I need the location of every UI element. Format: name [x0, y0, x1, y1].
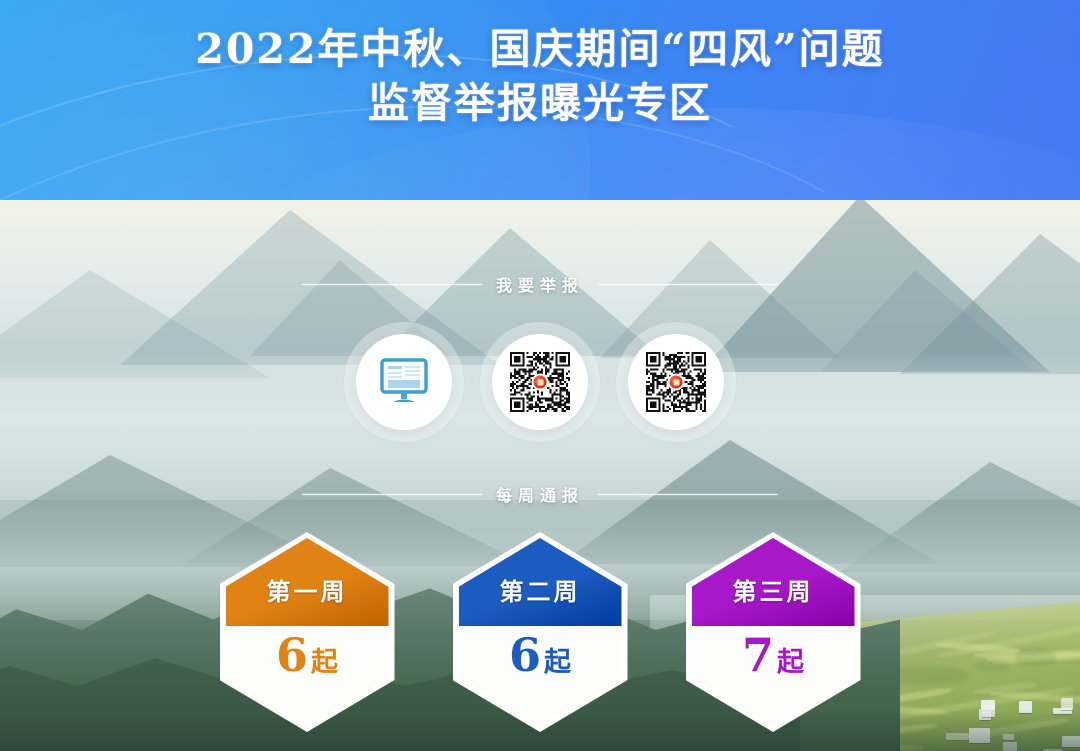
section-title-report: 我要举报 [496, 272, 584, 296]
week-label: 第三周 [733, 572, 814, 607]
section-title-weekly: 每周通报 [496, 482, 584, 506]
report-channel-website[interactable] [356, 334, 452, 430]
qr-center-logo [532, 374, 549, 391]
divider-line-right [598, 284, 778, 285]
divider-line-left [302, 284, 482, 285]
village-building [946, 733, 969, 740]
count-number: 6 [509, 632, 541, 678]
village-building [1003, 742, 1017, 751]
report-channel-qr-2[interactable] [628, 334, 724, 430]
qr-center-logo [668, 374, 685, 391]
report-channel-qr-1[interactable] [492, 334, 588, 430]
village-building [1003, 734, 1014, 740]
count-number: 6 [276, 632, 308, 678]
hex-band: 第三周 [692, 538, 855, 626]
week-label: 第一周 [267, 572, 348, 607]
case-count: 7 起 [692, 632, 855, 678]
report-channel-row [0, 334, 1080, 430]
weekly-card-week-2[interactable]: 第二周 6 起 [453, 532, 628, 732]
week-label: 第二周 [500, 572, 581, 607]
header-banner: 2022年中秋、国庆期间“四风”问题 监督举报曝光专区 [0, 0, 1080, 200]
title-line-1: 2022年中秋、国庆期间“四风”问题 [0, 22, 1080, 76]
page-title: 2022年中秋、国庆期间“四风”问题 监督举报曝光专区 [0, 0, 1080, 130]
qr-code-icon [646, 352, 706, 412]
divider-line-left [302, 494, 482, 495]
section-heading-report: 我要举报 [0, 272, 1080, 296]
qr-code-icon [510, 352, 570, 412]
weekly-card-week-3[interactable]: 第三周 7 起 [686, 532, 861, 732]
count-unit: 起 [777, 649, 804, 676]
divider-line-right [598, 494, 778, 495]
weekly-report-row: 第一周 6 起 第二周 6 起 [0, 532, 1080, 732]
page-root: 2022年中秋、国庆期间“四风”问题 监督举报曝光专区 我要举报 [0, 0, 1080, 751]
title-line-2: 监督举报曝光专区 [0, 76, 1080, 130]
case-count: 6 起 [226, 632, 389, 678]
count-unit: 起 [544, 649, 571, 676]
village-building [1062, 736, 1080, 747]
count-number: 7 [742, 632, 774, 678]
weekly-card-week-1[interactable]: 第一周 6 起 [220, 532, 395, 732]
hex-band: 第一周 [226, 538, 389, 626]
monitor-icon [379, 358, 429, 406]
section-heading-weekly: 每周通报 [0, 482, 1080, 506]
case-count: 6 起 [459, 632, 622, 678]
count-unit: 起 [311, 649, 338, 676]
hex-band: 第二周 [459, 538, 622, 626]
